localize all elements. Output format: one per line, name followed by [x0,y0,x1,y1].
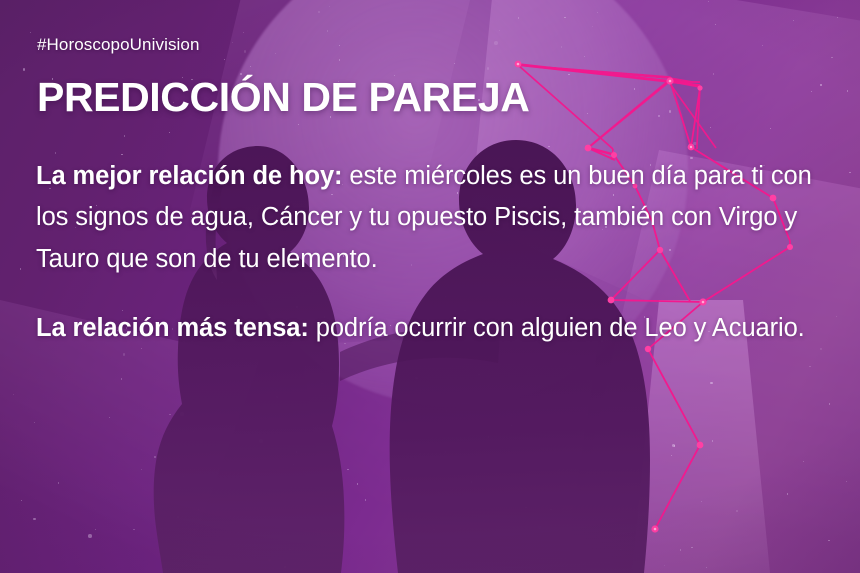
horoscope-card: #HoroscopoUnivision PREDICCIÓN DE PAREJA… [0,0,860,573]
paragraph-lead: La mejor relación de hoy: [36,162,342,190]
paragraph-text: podría ocurrir con alguien de Leo y Acua… [309,314,805,342]
paragraph-tense-match: La relación más tensa: podría ocurrir co… [36,308,824,349]
paragraph-best-match: La mejor relación de hoy: este miércoles… [36,156,824,280]
card-content: #HoroscopoUnivision PREDICCIÓN DE PAREJA… [0,0,860,573]
prediction-body: La mejor relación de hoy: este miércoles… [36,156,824,349]
hashtag-label: #HoroscopoUnivision [37,35,824,55]
paragraph-lead: La relación más tensa: [36,314,309,342]
page-title: PREDICCIÓN DE PAREJA [37,77,824,118]
